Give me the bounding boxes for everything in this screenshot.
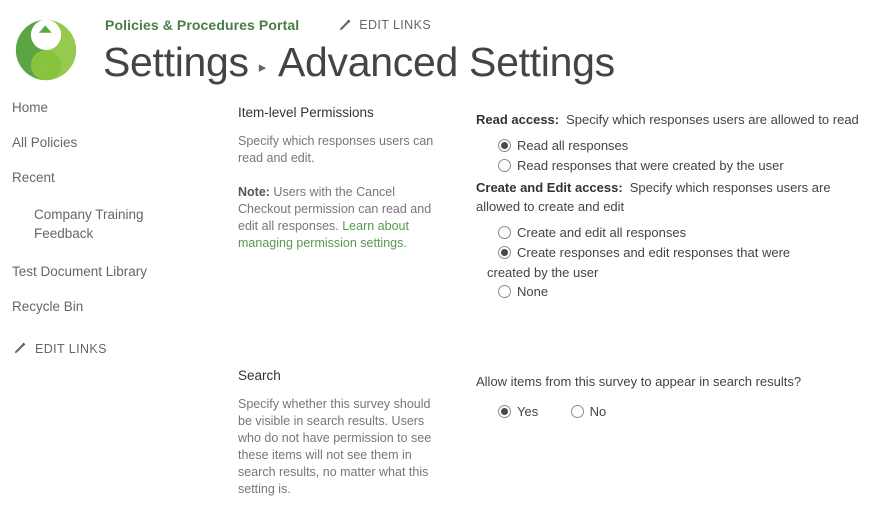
radio-indicator[interactable] bbox=[498, 246, 511, 259]
body-area: Home All Policies Recent Company Trainin… bbox=[0, 100, 870, 528]
search-desc-paragraph: Specify whether this survey should be vi… bbox=[238, 396, 446, 498]
breadcrumb-separator-icon: ▸ bbox=[259, 59, 266, 77]
page-title-settings[interactable]: Settings bbox=[103, 39, 249, 85]
radio-circle-icon bbox=[498, 246, 511, 259]
search-description: Search Specify whether this survey shoul… bbox=[238, 368, 446, 498]
radio-create-edit-all-responses[interactable]: Create and edit all responses bbox=[498, 223, 866, 242]
site-logo[interactable] bbox=[10, 14, 82, 86]
radio-indicator[interactable] bbox=[498, 226, 511, 239]
desc-paragraph-note: Note: Users with the Cancel Checkout per… bbox=[238, 184, 446, 252]
radio-label: Create responses and edit responses that… bbox=[517, 243, 790, 262]
note-label: Note: bbox=[238, 185, 270, 199]
read-access-label-text: Specify which responses users are allowe… bbox=[566, 112, 859, 127]
radio-read-all-responses[interactable]: Read all responses bbox=[498, 136, 866, 155]
item-level-permissions-description: Item-level Permissions Specify which res… bbox=[238, 105, 446, 252]
radio-label: None bbox=[517, 282, 548, 301]
radio-indicator[interactable] bbox=[498, 139, 511, 152]
read-access-radio-group: Read all responses Read responses that w… bbox=[476, 136, 866, 175]
sidebar-item-recycle-bin[interactable]: Recycle Bin bbox=[12, 299, 228, 315]
desc-paragraph-1: Specify which responses users can read a… bbox=[238, 133, 446, 167]
site-title[interactable]: Policies & Procedures Portal bbox=[105, 17, 299, 33]
radio-circle-icon bbox=[498, 159, 511, 172]
radio-create-edit-none[interactable]: None bbox=[498, 282, 866, 301]
search-question-label: Allow items from this survey to appear i… bbox=[476, 372, 866, 391]
page-header: Policies & Procedures Portal EDIT LINKS … bbox=[0, 0, 870, 100]
search-desc: Specify whether this survey should be vi… bbox=[238, 396, 446, 498]
search-radio-group: Yes No bbox=[476, 402, 866, 423]
sidebar-item-home[interactable]: Home bbox=[12, 100, 228, 116]
radio-label: Read responses that were created by the … bbox=[517, 156, 784, 175]
radio-circle-icon bbox=[571, 405, 584, 418]
radio-label: Read all responses bbox=[517, 136, 628, 155]
radio-search-no[interactable]: No bbox=[571, 402, 607, 421]
item-level-permissions-desc: Specify which responses users can read a… bbox=[238, 133, 446, 252]
radio-search-yes[interactable]: Yes bbox=[498, 402, 538, 421]
create-edit-access-label: Create and Edit access:Specify which res… bbox=[476, 178, 866, 216]
sidebar-item-company-training-feedback[interactable]: Company Training Feedback bbox=[34, 205, 154, 243]
radio-label-continuation: created by the user bbox=[487, 263, 866, 282]
read-access-label-bold: Read access: bbox=[476, 112, 559, 127]
radio-circle-icon bbox=[498, 226, 511, 239]
item-level-permissions-fields: Read access:Specify which responses user… bbox=[476, 110, 866, 302]
radio-label: Create and edit all responses bbox=[517, 223, 686, 242]
pencil-icon bbox=[337, 18, 352, 33]
recycle-circle-logo-icon bbox=[10, 14, 82, 86]
create-edit-access-radio-group: Create and edit all responses Create res… bbox=[476, 223, 866, 301]
page-title: Settings▸Advanced Settings bbox=[103, 38, 615, 87]
search-heading: Search bbox=[238, 368, 446, 384]
sidebar-edit-links-label: EDIT LINKS bbox=[35, 342, 107, 356]
radio-indicator[interactable] bbox=[498, 405, 511, 418]
radio-indicator[interactable] bbox=[498, 285, 511, 298]
radio-label: Yes bbox=[517, 402, 538, 421]
header-edit-links-label: EDIT LINKS bbox=[359, 18, 431, 32]
radio-create-edit-own-responses[interactable]: Create responses and edit responses that… bbox=[498, 243, 866, 262]
radio-circle-icon bbox=[498, 405, 511, 418]
sidebar-item-all-policies[interactable]: All Policies bbox=[12, 135, 228, 151]
radio-indicator[interactable] bbox=[498, 159, 511, 172]
quick-launch-nav: Home All Policies Recent Company Trainin… bbox=[0, 100, 228, 356]
sidebar-item-recent[interactable]: Recent bbox=[12, 170, 228, 186]
site-title-row: Policies & Procedures Portal EDIT LINKS bbox=[105, 17, 431, 33]
header-edit-links-button[interactable]: EDIT LINKS bbox=[337, 18, 431, 33]
item-level-permissions-heading: Item-level Permissions bbox=[238, 105, 446, 121]
search-fields: Allow items from this survey to appear i… bbox=[476, 372, 866, 423]
sidebar-item-test-document-library[interactable]: Test Document Library bbox=[12, 264, 228, 280]
pencil-icon bbox=[12, 341, 27, 356]
sidebar-edit-links-button[interactable]: EDIT LINKS bbox=[12, 341, 228, 356]
radio-circle-icon bbox=[498, 285, 511, 298]
page-title-advanced-settings: Advanced Settings bbox=[278, 39, 615, 85]
radio-indicator[interactable] bbox=[571, 405, 584, 418]
read-access-label: Read access:Specify which responses user… bbox=[476, 110, 866, 129]
radio-circle-icon bbox=[498, 139, 511, 152]
create-edit-access-label-bold: Create and Edit access: bbox=[476, 180, 623, 195]
radio-read-own-responses[interactable]: Read responses that were created by the … bbox=[498, 156, 866, 175]
radio-label: No bbox=[590, 402, 607, 421]
